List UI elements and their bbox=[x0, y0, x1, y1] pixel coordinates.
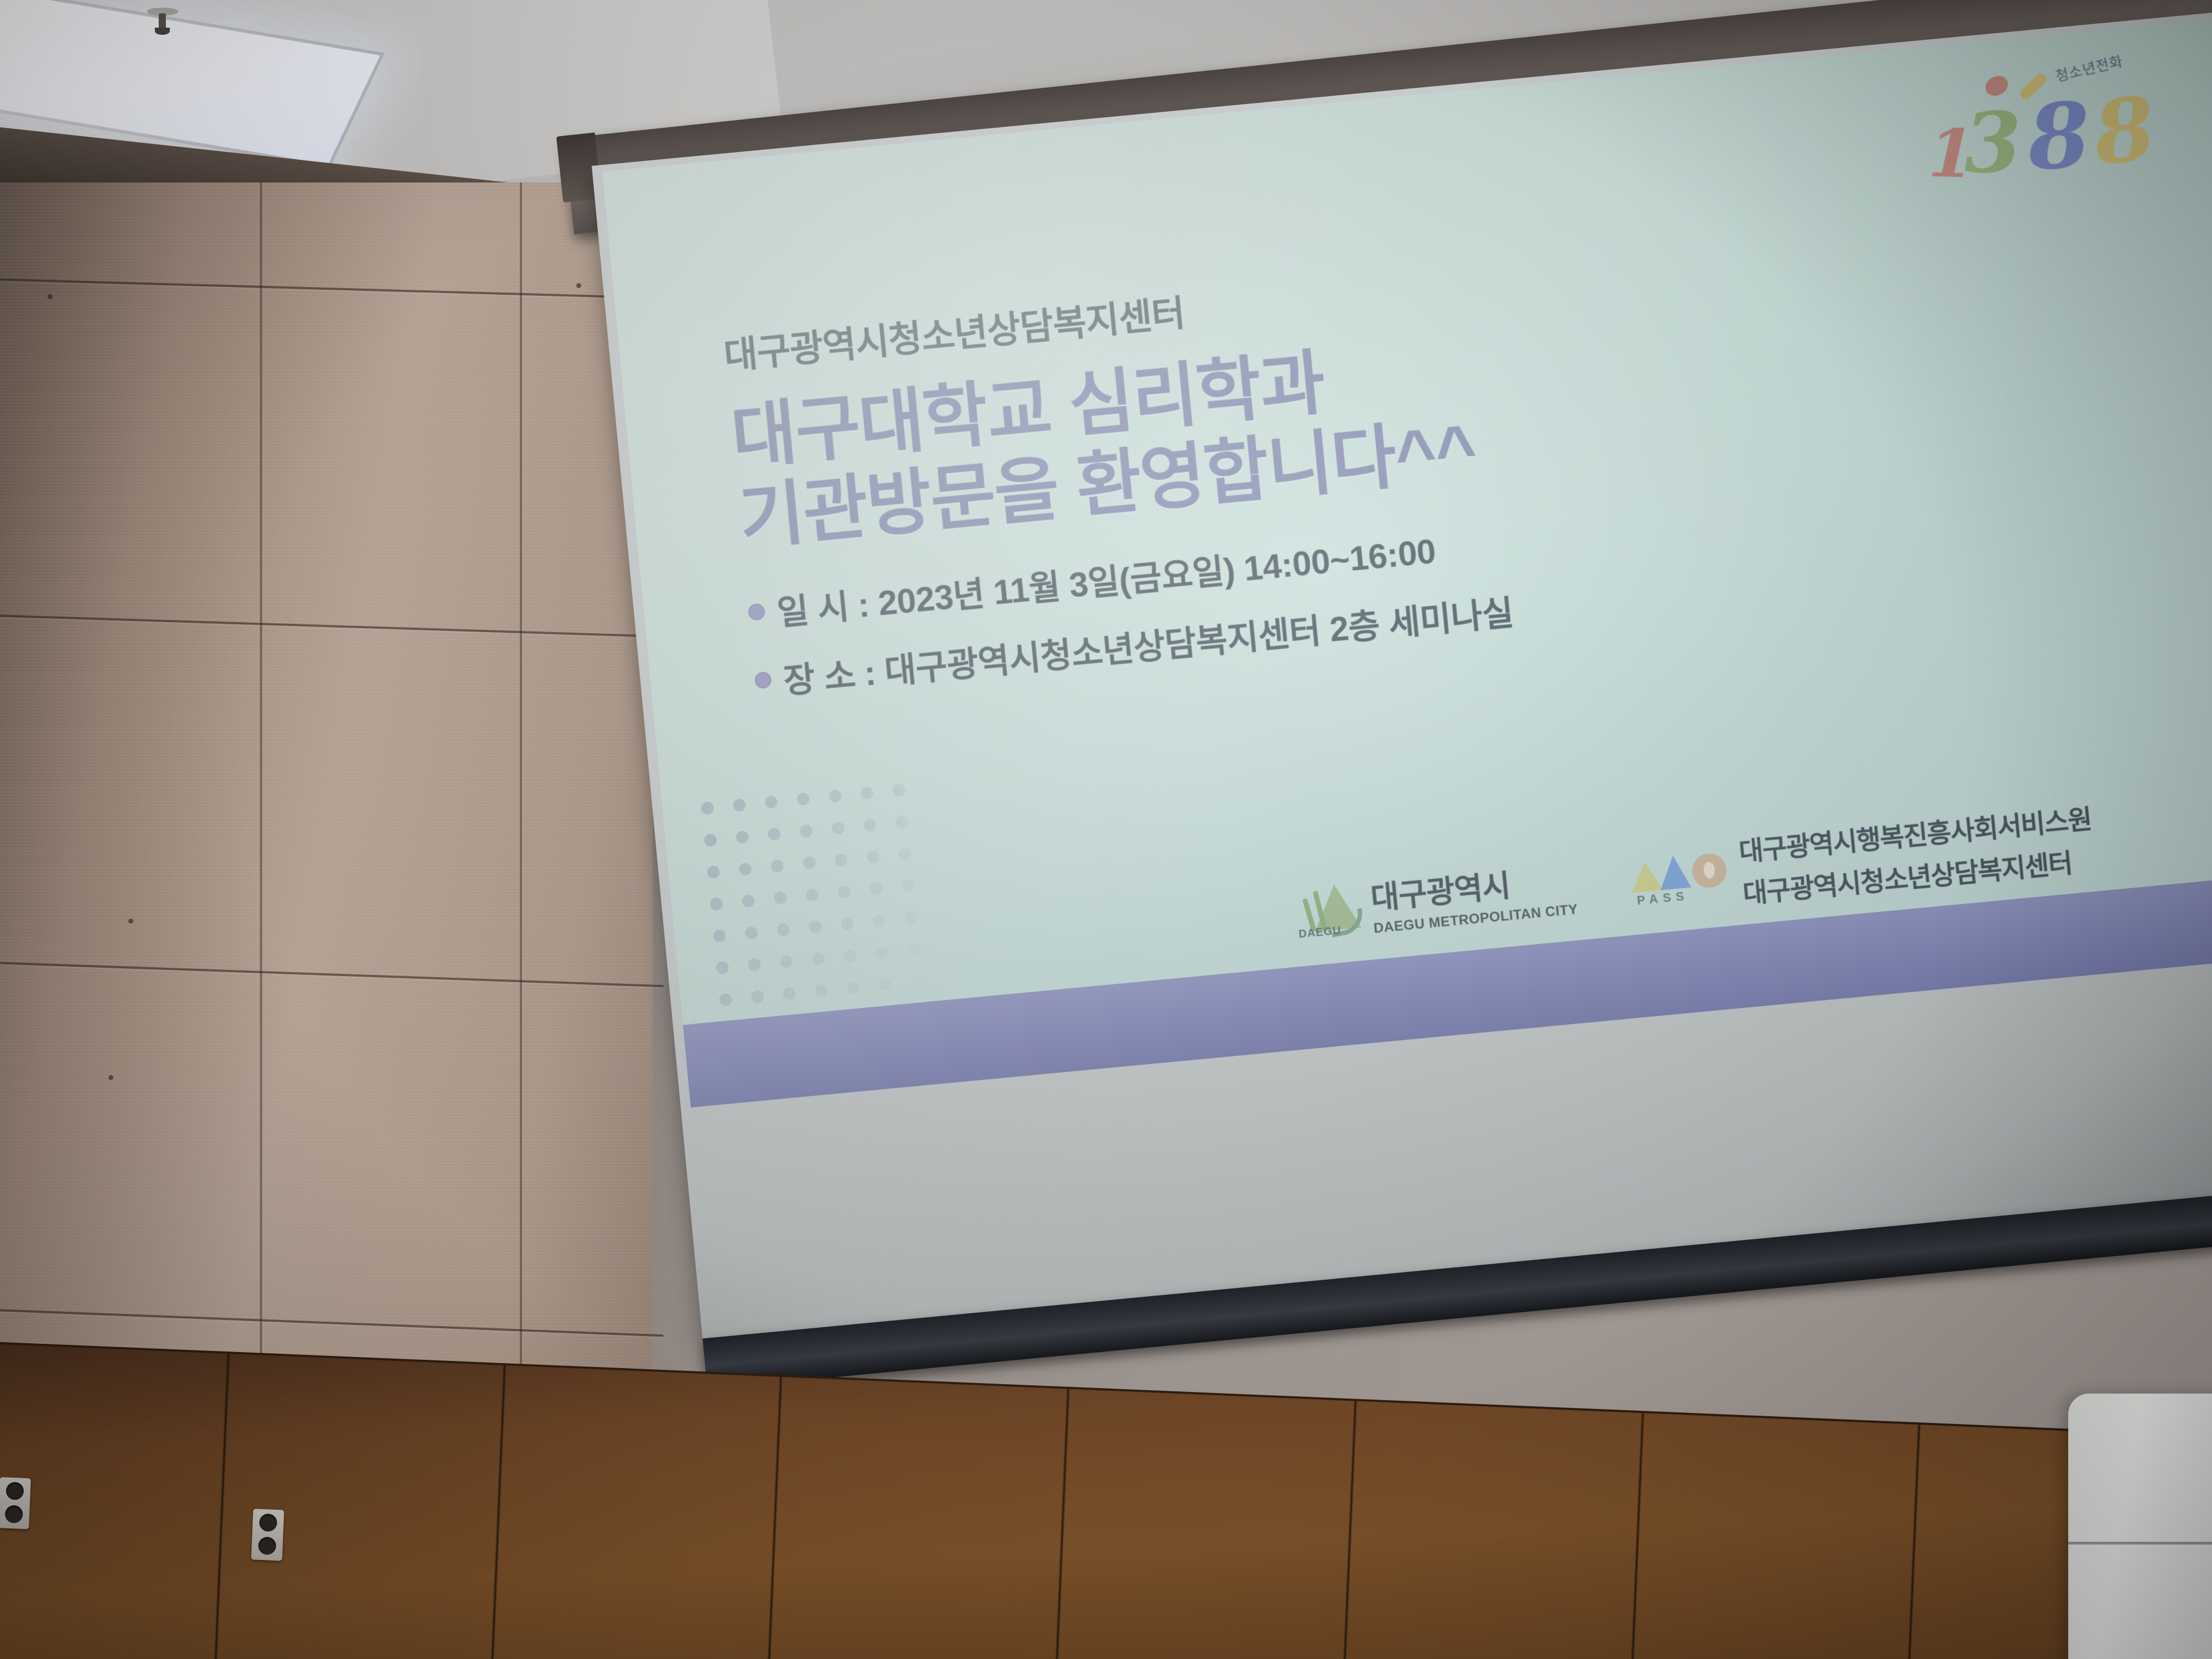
logo-1388-digit-8-first: 8 bbox=[2025, 90, 2093, 183]
slide-text-block: 대구광역시청소년상담복지센터 대구대학교 심리학과 기관방문을 환영합니다^^ … bbox=[721, 212, 1970, 724]
power-outlet-left bbox=[0, 1477, 31, 1529]
appliance-panel-seam bbox=[2068, 1542, 2212, 1545]
pass-logo-text: 대구광역시행복진흥사회서비스원 대구광역시청소년상담복지센터 bbox=[1737, 797, 2097, 911]
slide-dot-pattern-decoration bbox=[690, 772, 942, 1014]
logo-1388: 청소년전화 1 3 8 8 bbox=[1916, 49, 2182, 205]
daegu-mountain-icon: DAEGU bbox=[1292, 880, 1363, 939]
fire-sprinkler-icon bbox=[147, 8, 178, 36]
presentation-slide: 청소년전화 1 3 8 8 대구광역시청소년상담복지센터 대구대학교 심리학과 … bbox=[602, 18, 2212, 1108]
daegu-logo-text: 대구광역시 DAEGU METROPOLITAN CITY bbox=[1369, 855, 1579, 937]
white-appliance bbox=[2068, 1394, 2212, 1659]
pass-chevron-icon: PASS bbox=[1628, 845, 1732, 907]
logo-daegu-metropolitan-city: DAEGU 대구광역시 DAEGU METROPOLITAN CITY bbox=[1291, 855, 1578, 945]
bullet-dot-icon bbox=[754, 671, 773, 689]
logo-1388-digit-3: 3 bbox=[1963, 101, 2023, 185]
acoustic-wall-panels bbox=[0, 182, 653, 1471]
seminar-room-photo: 청소년전화 1 3 8 8 대구광역시청소년상담복지센터 대구대학교 심리학과 … bbox=[0, 0, 2212, 1659]
daegu-mark-label: DAEGU bbox=[1298, 925, 1342, 941]
projection-screen-surface: 청소년전화 1 3 8 8 대구광역시청소년상담복지센터 대구대학교 심리학과 … bbox=[592, 11, 2212, 1339]
power-outlet-right bbox=[251, 1509, 284, 1561]
bullet-dot-icon bbox=[748, 603, 766, 621]
logo-1388-digit-8-second: 8 bbox=[2089, 85, 2159, 178]
projection-screen: 청소년전화 1 3 8 8 대구광역시청소년상담복지센터 대구대학교 심리학과 … bbox=[592, 11, 2212, 1389]
